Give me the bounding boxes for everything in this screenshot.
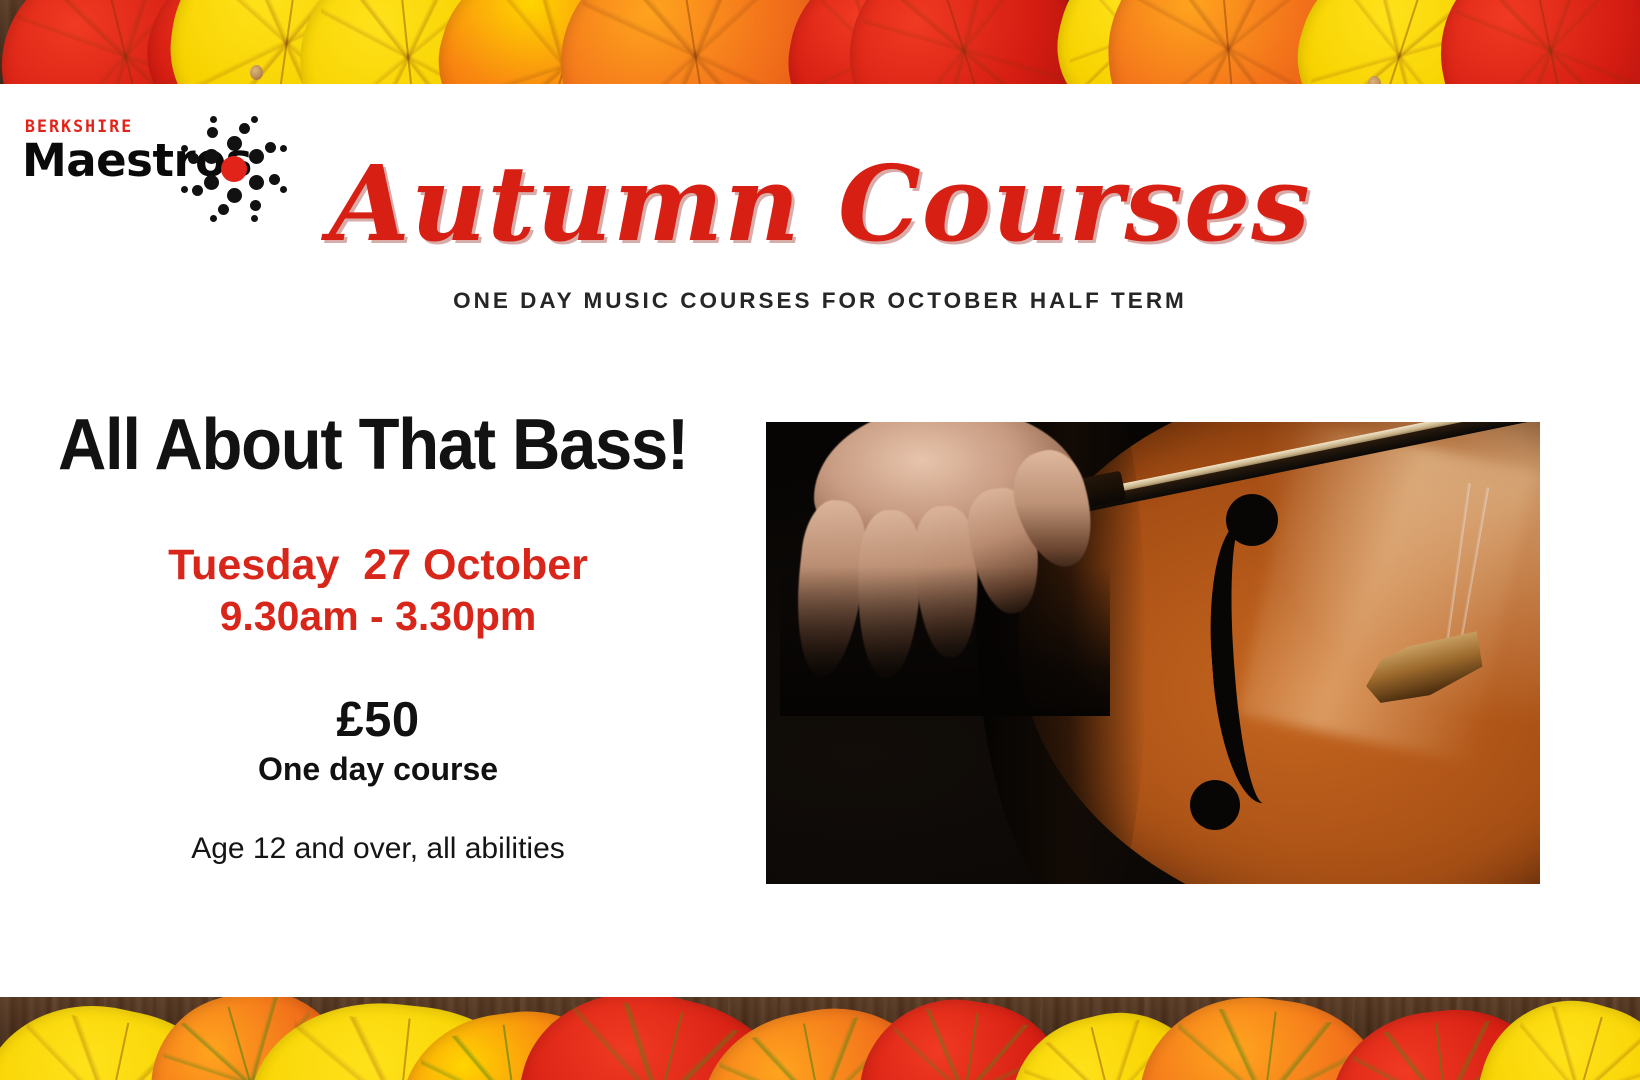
logo-dot: [280, 145, 287, 152]
date-time-block: Tuesday 27 October 9.30am - 3.30pm: [58, 539, 698, 641]
maple-leaf: [1422, 0, 1640, 84]
bottom-leaf-border: [0, 997, 1640, 1080]
f-hole-curve: [1202, 518, 1292, 806]
course-time: 9.30am - 3.30pm: [58, 591, 698, 641]
logo-dot: [239, 123, 250, 134]
page-title: Autumn Courses: [0, 152, 1640, 256]
hand-shadow: [780, 566, 1110, 716]
course-date: Tuesday 27 October: [58, 539, 698, 591]
logo-dot: [181, 145, 188, 152]
logo-dot: [227, 136, 242, 151]
f-hole: [1196, 494, 1282, 824]
course-title: All About That Bass!: [58, 409, 688, 481]
logo-dot: [210, 116, 217, 123]
logo-dot: [207, 127, 218, 138]
age-requirement-note: Age 12 and over, all abilities: [58, 832, 698, 866]
course-price-note: One day course: [58, 748, 698, 791]
poster-canvas: BERKSHIRE Maestros Autumn Courses ONE DA…: [0, 0, 1640, 1080]
price-block: £50 One day course: [58, 694, 698, 791]
top-leaf-border: [0, 0, 1640, 84]
page-subtitle: ONE DAY MUSIC COURSES FOR OCTOBER HALF T…: [0, 288, 1640, 314]
f-hole-lower-eye: [1190, 780, 1240, 830]
logo-dot: [251, 116, 258, 123]
players-hand: [780, 422, 1110, 706]
double-bass-photo: [766, 422, 1540, 884]
course-price: £50: [58, 694, 698, 748]
content-card: BERKSHIRE Maestros Autumn Courses ONE DA…: [0, 84, 1640, 997]
